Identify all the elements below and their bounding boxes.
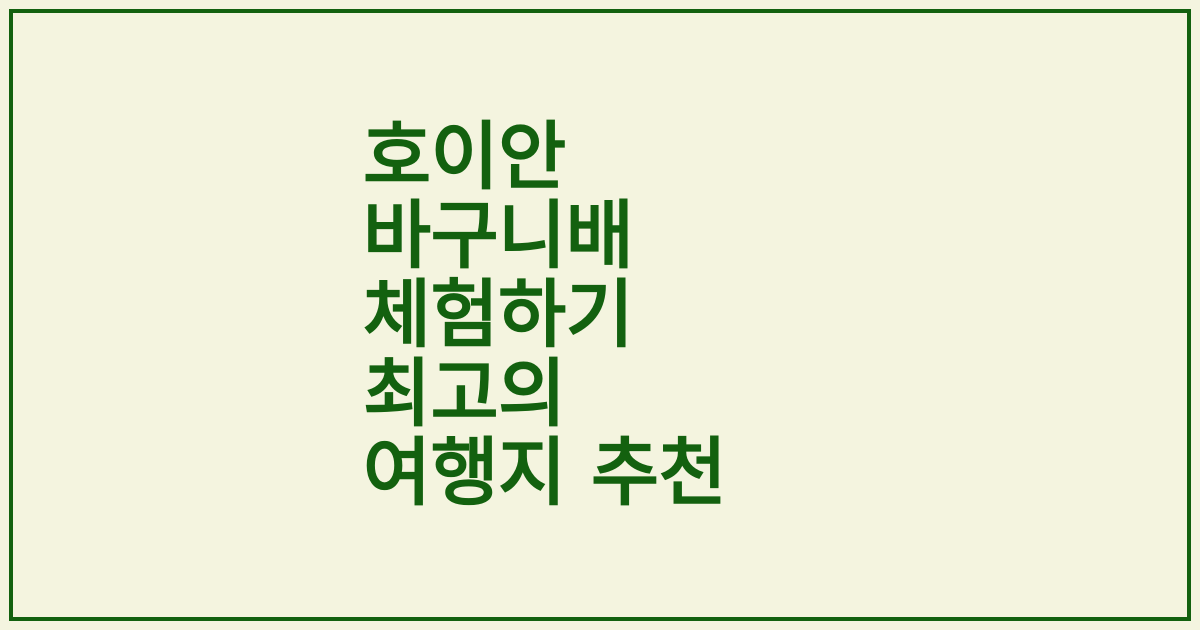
og-card: 호이안 바구니배 체험하기 최고의 여행지 추천 (0, 0, 1200, 630)
content-area: 호이안 바구니배 체험하기 최고의 여행지 추천 (0, 0, 1200, 630)
page-title: 호이안 바구니배 체험하기 최고의 여행지 추천 (363, 118, 833, 513)
title-block: 호이안 바구니배 체험하기 최고의 여행지 추천 (363, 118, 833, 513)
